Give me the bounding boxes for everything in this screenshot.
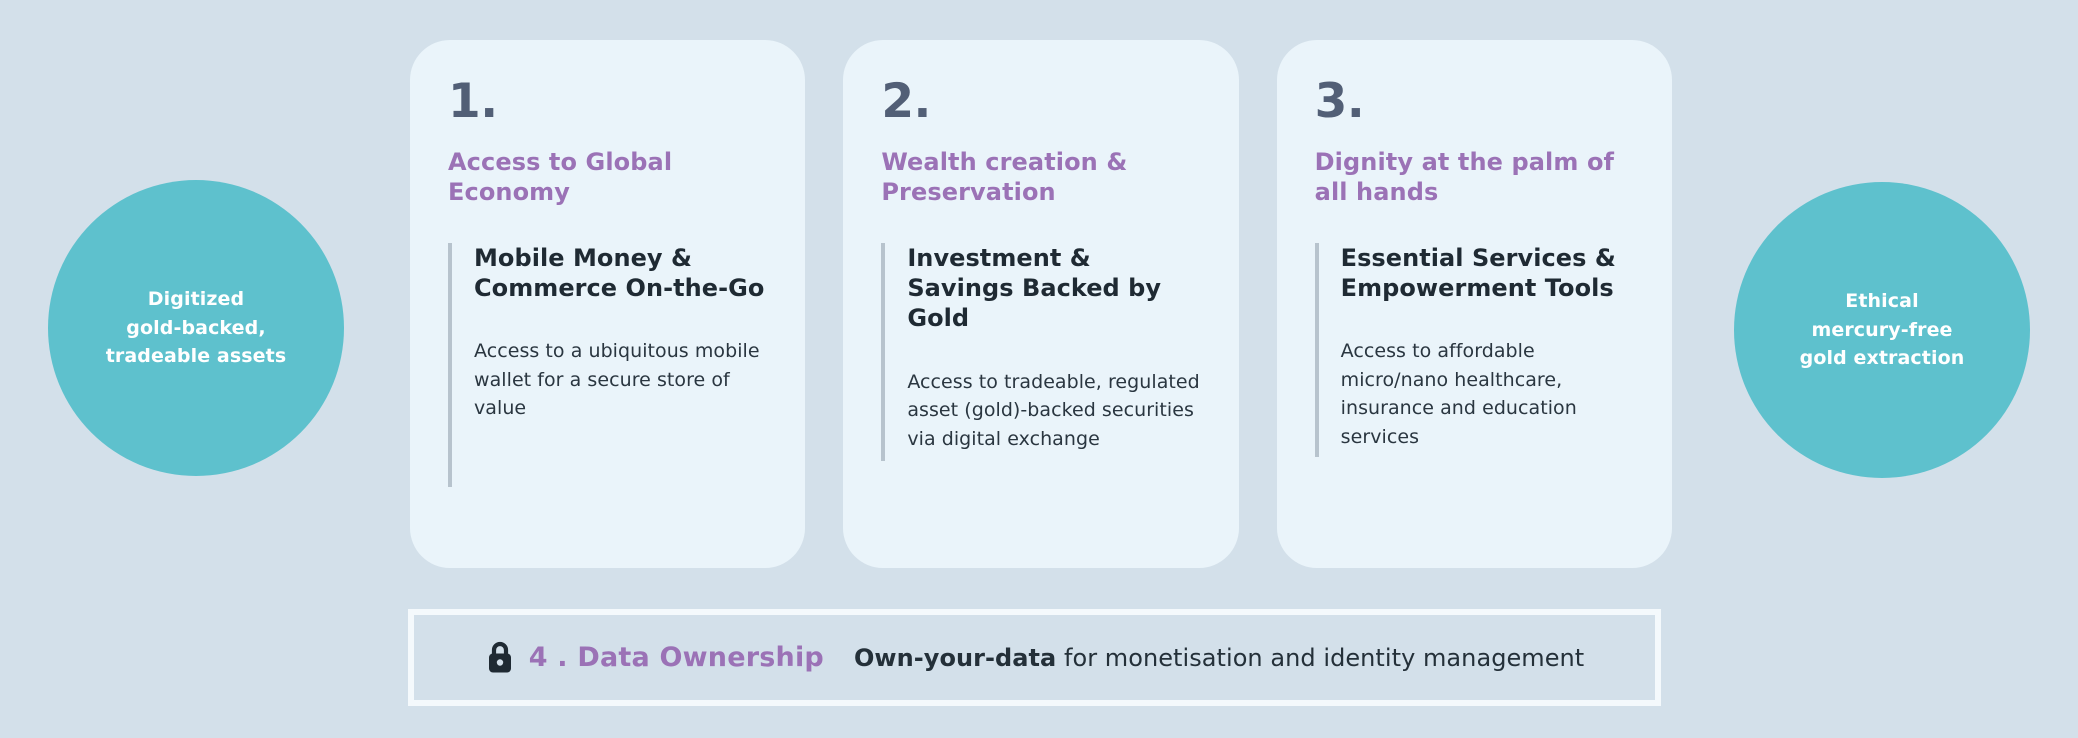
circle-ethical-extraction: Ethical mercury-free gold extraction: [1734, 182, 2030, 478]
banner-description-bold: Own-your-data: [854, 644, 1056, 672]
pillar-cards-row: 1. Access to Global Economy Mobile Money…: [410, 40, 1672, 568]
pillar-card-3[interactable]: 3. Dignity at the palm of all hands Esse…: [1277, 40, 1672, 568]
card-number-2: 2.: [881, 78, 1202, 125]
banner-description-rest: for monetisation and identity management: [1056, 644, 1584, 672]
card-subheading-1: Mobile Money & Commerce On-the-Go: [474, 243, 769, 303]
card-heading-3: Dignity at the palm of all hands: [1315, 147, 1636, 207]
banner-label: 4 . Data Ownership: [529, 642, 824, 673]
card-number-3: 3.: [1315, 78, 1636, 125]
card-number-1: 1.: [448, 78, 769, 125]
card-heading-2: Wealth creation & Preservation: [881, 147, 1202, 207]
banner-description: Own-your-data for monetisation and ident…: [854, 644, 1584, 672]
circle-left-label: Digitized gold-backed, tradeable assets: [106, 285, 287, 372]
card-text-1: Access to a ubiquitous mobile wallet for…: [474, 337, 769, 423]
card-subheading-3: Essential Services & Empowerment Tools: [1341, 243, 1636, 303]
card-body-1: Mobile Money & Commerce On-the-Go Access…: [448, 243, 769, 487]
circle-right-label: Ethical mercury-free gold extraction: [1800, 287, 1965, 374]
card-subheading-2: Investment & Savings Backed by Gold: [907, 243, 1202, 334]
card-text-3: Access to affordable micro/nano healthca…: [1341, 337, 1636, 451]
card-body-3: Essential Services & Empowerment Tools A…: [1315, 243, 1636, 457]
card-text-2: Access to tradeable, regulated asset (go…: [907, 368, 1202, 454]
card-heading-1: Access to Global Economy: [448, 147, 769, 207]
pillar-card-1[interactable]: 1. Access to Global Economy Mobile Money…: [410, 40, 805, 568]
banner-content: 4 . Data Ownership Own-your-data for mon…: [485, 641, 1585, 675]
data-ownership-banner[interactable]: 4 . Data Ownership Own-your-data for mon…: [408, 609, 1661, 706]
card-body-2: Investment & Savings Backed by Gold Acce…: [881, 243, 1202, 461]
circle-digitized-assets: Digitized gold-backed, tradeable assets: [48, 180, 344, 476]
pillar-card-2[interactable]: 2. Wealth creation & Preservation Invest…: [843, 40, 1238, 568]
lock-icon: [485, 641, 515, 675]
